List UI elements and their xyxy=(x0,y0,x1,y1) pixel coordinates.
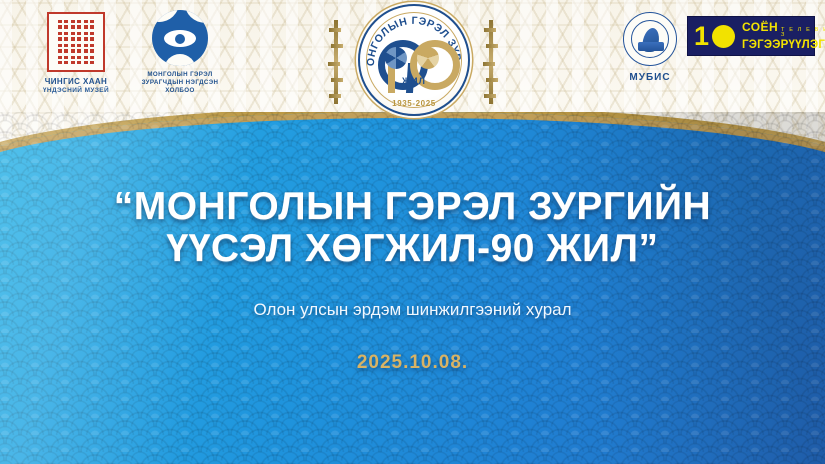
tv-yellow-circle-icon xyxy=(712,25,735,48)
tv-label-gegeeruulegch: ГЭГЭЭРҮҮЛЭГЧ xyxy=(742,39,825,51)
tv-numeral-one: 1 xyxy=(694,23,709,50)
logo-mubis: МУБИС xyxy=(612,12,688,85)
poster-title-line1: “МОНГОЛЫН ГЭРЭЛ ЗУРГИЙН xyxy=(0,186,825,228)
poster-date: 2025.10.08. xyxy=(0,352,825,374)
tv-logo-box: 1 СОЁН Т Е Л Е В И З ГЭГЭЭРҮҮЛЭГЧ xyxy=(687,16,815,56)
union-caption-line3: ХОЛБОО xyxy=(142,87,219,95)
eye-aperture-icon xyxy=(152,10,208,66)
logo-caption-union: МОНГОЛЫН ГЭРЭЛ ЗУРАГЧДЫН НЭГДСЭН ХОЛБОО xyxy=(142,71,219,94)
logo-soyon-gegeeruulegch-tv: 1 СОЁН Т Е Л Е В И З ГЭГЭЭРҮҮЛЭГЧ xyxy=(687,16,815,56)
aperture-icon-blue xyxy=(385,47,407,69)
museum-caption-line1: ЧИНГИС ХААН xyxy=(43,77,109,87)
diagonal-sheen-overlay xyxy=(0,112,825,464)
tv-label-televiz: Т Е Л Е В И З xyxy=(781,28,825,40)
blue-panel xyxy=(0,112,825,464)
blue-gradient-surface xyxy=(0,112,825,464)
mongol-script-seal-icon xyxy=(47,12,105,72)
logo-90-year-emblem: МОНГОЛЫН ГЭРЭЛ ЗУРАГ ЖИЛ 1935-2025 xyxy=(358,4,470,116)
emblem-unit-label: ЖИЛ xyxy=(360,76,468,86)
museum-caption-line2: ҮНДЭСНИЙ МУЗЕЙ xyxy=(43,87,109,95)
union-caption-line2: ЗУРАГЧДЫН НЭГДСЭН xyxy=(142,79,219,87)
tv-label-soyon: СОЁН xyxy=(742,21,778,34)
logo-caption-mubis: МУБИС xyxy=(629,72,670,85)
aperture-icon-gold xyxy=(417,47,439,69)
mongol-vertical-script-left-icon xyxy=(325,14,347,109)
poster-title-line2: ҮҮСЭЛ ХӨГЖИЛ-90 ЖИЛ” xyxy=(0,228,825,270)
emblem-badge-icon: МОНГОЛЫН ГЭРЭЛ ЗУРАГ ЖИЛ 1935-2025 xyxy=(358,4,470,116)
title-block: “МОНГОЛЫН ГЭРЭЛ ЗУРГИЙН ҮҮСЭЛ ХӨГЖИЛ-90 … xyxy=(0,186,825,270)
logo-chinggis-khaan-museum: ЧИНГИС ХААН ҮНДЭСНИЙ МУЗЕЙ xyxy=(28,12,124,95)
logo-photographers-union: МОНГОЛЫН ГЭРЭЛ ЗУРАГЧДЫН НЭГДСЭН ХОЛБОО xyxy=(120,10,240,94)
mongol-vertical-script-right-icon xyxy=(480,14,502,109)
poster-subtitle: Олон улсын эрдэм шинжилгээний хурал xyxy=(0,300,825,320)
union-caption-line1: МОНГОЛЫН ГЭРЭЛ xyxy=(142,71,219,79)
flame-book-seal-icon xyxy=(623,12,677,66)
emblem-years-label: 1935-2025 xyxy=(360,99,468,108)
conference-poster: ЧИНГИС ХААН ҮНДЭСНИЙ МУЗЕЙ МОНГОЛЫН ГЭРЭ… xyxy=(0,0,825,464)
logo-caption-museum: ЧИНГИС ХААН ҮНДЭСНИЙ МУЗЕЙ xyxy=(43,77,109,95)
